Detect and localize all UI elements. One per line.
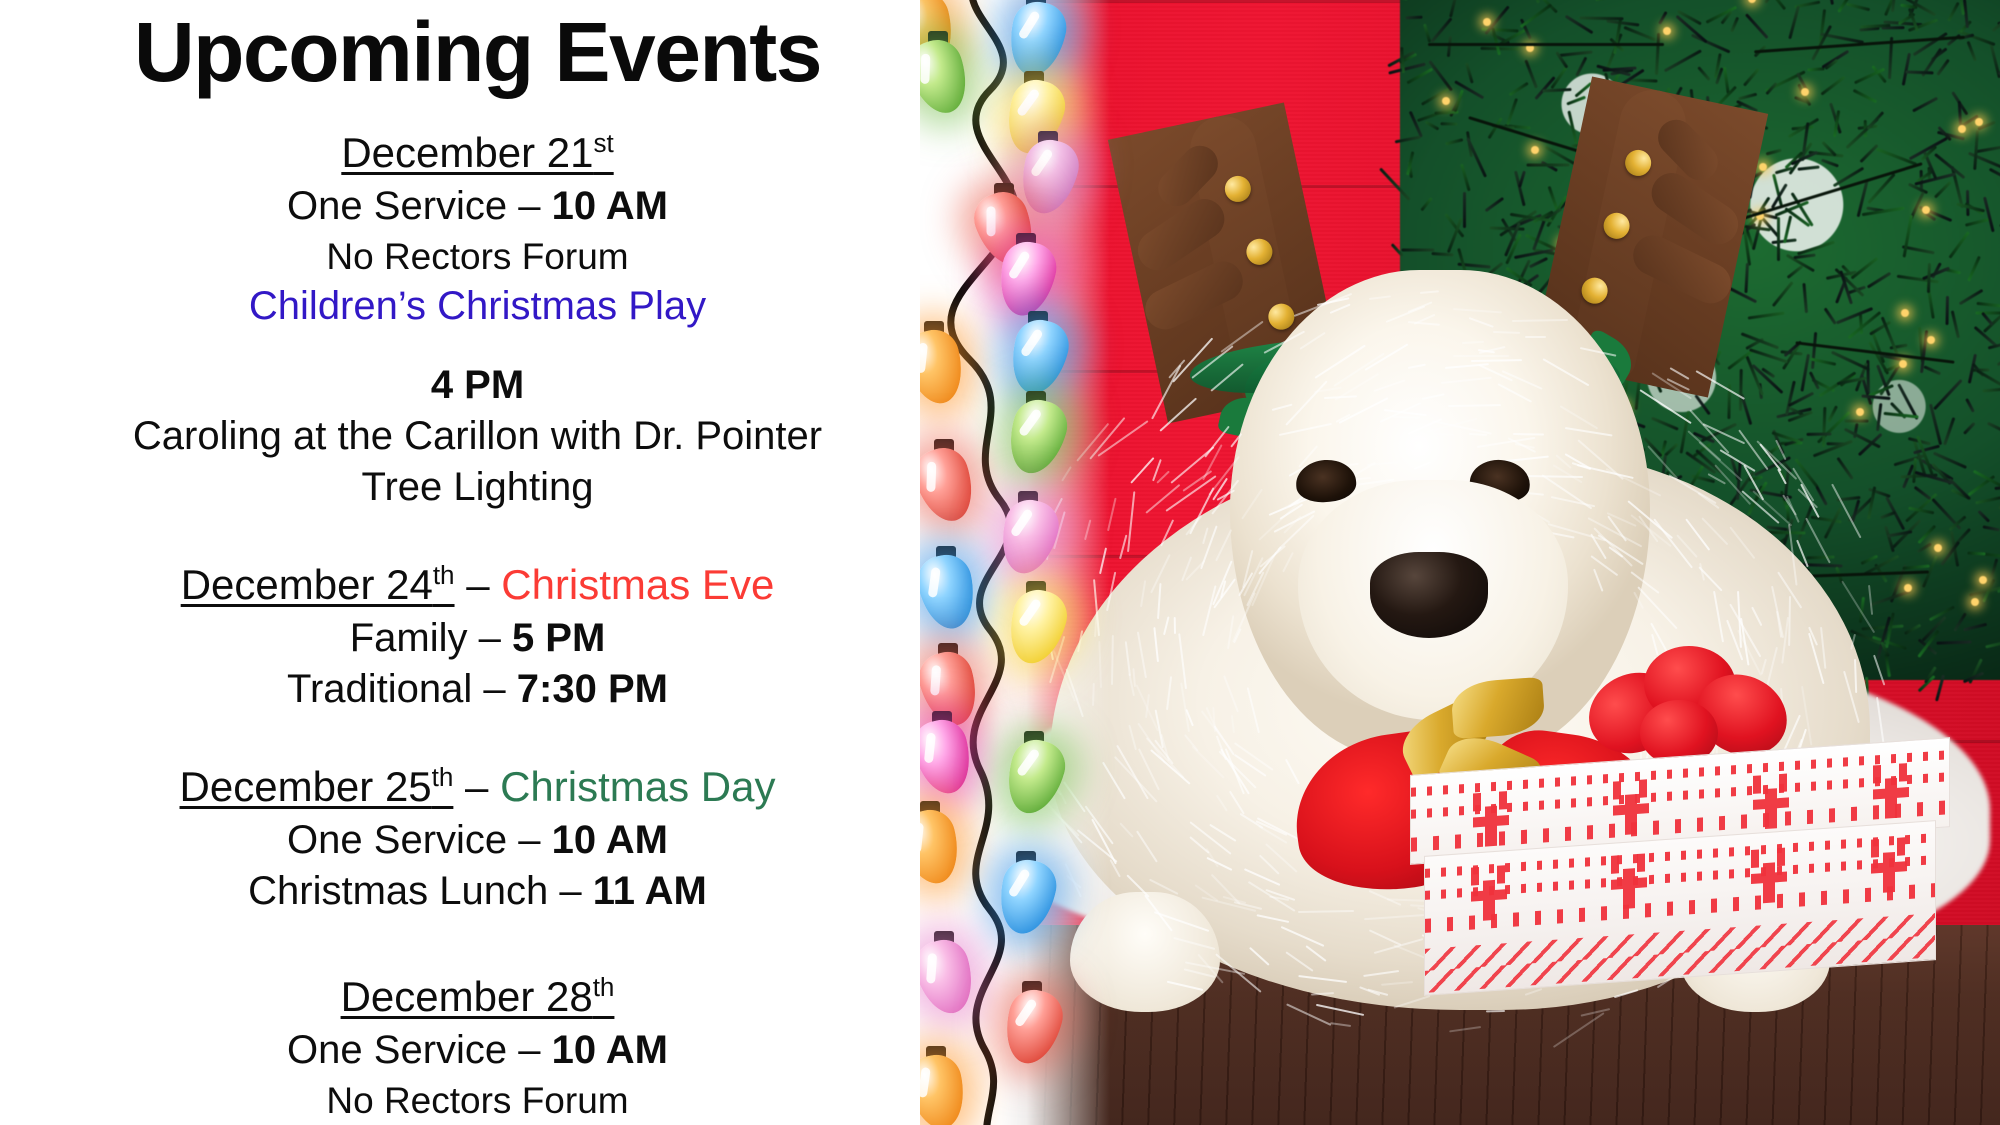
gift-box [1410,700,1950,980]
tree-fairy-light [1663,27,1671,35]
tree-fairy-light [1442,97,1450,105]
event-time: 11 AM [593,869,707,913]
event-line: Family – 5 PM [0,613,955,664]
spacer [0,521,955,557]
event-block-december-21: December 21st One Service – 10 AM No Rec… [0,125,955,332]
text-panel: Upcoming Events December 21st One Servic… [0,0,1000,1125]
christmas-dog-photo [920,0,2000,1125]
event-time: 5 PM [512,616,605,660]
spacer [0,340,955,360]
event-line: Christmas Lunch – 11 AM [0,866,955,917]
spacer [0,925,955,969]
event-time: 10 AM [552,1028,668,1072]
event-line-childrens-play: Children’s Christmas Play [0,281,955,332]
page-title: Upcoming Events [0,8,955,96]
tree-fairy-light [1979,576,1987,584]
event-line: One Service – 10 AM [0,815,955,866]
tree-fairy-light [1971,598,1979,606]
tree-fairy-light [1904,584,1912,592]
events-list: December 21st One Service – 10 AM No Rec… [0,125,955,1125]
tree-fairy-light [1975,118,1983,126]
date-ordinal-suffix: st [593,128,613,158]
event-line: One Service – 10 AM [0,1025,955,1076]
event-date-december-21: December 21st [0,125,955,181]
slide-root: Upcoming Events December 21st One Servic… [0,0,2000,1125]
tree-fairy-light [1922,206,1930,214]
date-ordinal-suffix: th [433,560,455,590]
event-time: 10 AM [552,184,668,228]
event-time: 4 PM [0,360,955,411]
tree-fairy-light [1934,544,1942,552]
event-line-tree-lighting: Tree Lighting [0,462,955,513]
tree-fairy-light [1899,360,1907,368]
event-line: No Rectors Forum [0,1076,955,1125]
dog-nose [1370,552,1488,638]
tree-fairy-light [1801,88,1809,96]
tree-fairy-light [1958,125,1966,133]
event-time: 10 AM [552,818,668,862]
event-line: One Service – 10 AM [0,181,955,232]
event-time: 7:30 PM [517,667,668,711]
event-date-december-24: December 24th – Christmas Eve [0,557,955,613]
event-label-christmas-day: Christmas Day [500,763,775,810]
spacer [0,723,955,759]
event-block-december-28: December 28th One Service – 10 AM No Rec… [0,969,955,1125]
event-block-december-25: December 25th – Christmas Day One Servic… [0,759,955,917]
event-block-4pm: 4 PM Caroling at the Carillon with Dr. P… [0,360,955,513]
tree-fairy-light [1901,309,1909,317]
event-line: Traditional – 7:30 PM [0,664,955,715]
tree-fairy-light [1483,18,1491,26]
event-date-december-28: December 28th [0,969,955,1025]
event-label-christmas-eve: Christmas Eve [501,561,774,608]
date-ordinal-suffix: th [432,762,454,792]
event-block-december-24: December 24th – Christmas Eve Family – 5… [0,557,955,715]
event-line: No Rectors Forum [0,232,955,281]
tree-fairy-light [1927,336,1935,344]
event-date-december-25: December 25th – Christmas Day [0,759,955,815]
event-line-caroling: Caroling at the Carillon with Dr. Pointe… [0,411,955,462]
date-ordinal-suffix: th [593,972,615,1002]
